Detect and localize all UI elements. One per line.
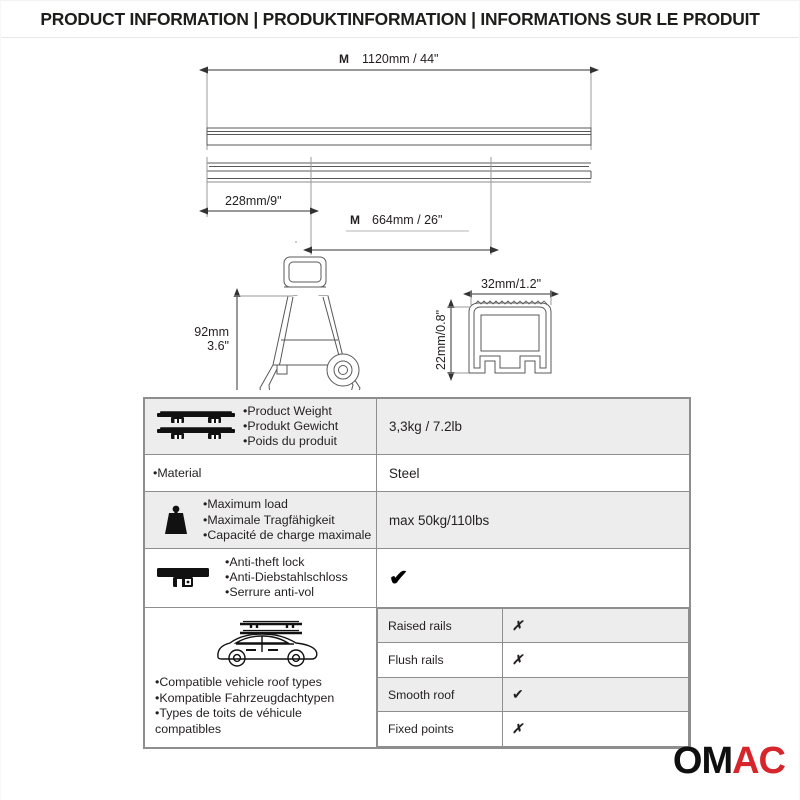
table-row: •Compatible vehicle roof types •Kompatib… [145, 607, 690, 747]
roof-type-row: Raised rails ✗ [378, 608, 689, 643]
roof-type-mark: ✗ [503, 608, 689, 643]
weight-labels: •Product Weight •Produkt Gewicht •Poids … [243, 404, 338, 449]
load-labels: •Maximum load •Maximale Tragfähigkeit •C… [203, 497, 371, 542]
car-with-rack-icon [204, 617, 322, 669]
lock-check-mark: ✔ [376, 567, 408, 589]
roof-type-row: Flush rails ✗ [378, 643, 689, 678]
roof-type-name: Raised rails [378, 608, 503, 643]
foot-height-label-line2: 3.6" [207, 339, 229, 353]
roof-type-mark: ✗ [503, 712, 689, 747]
bar-span-prefix: M [350, 213, 360, 227]
logo-text-black: OM [673, 740, 732, 782]
logo-text-red: AC [732, 740, 785, 782]
roof-types-table: Raised rails ✗ Flush rails ✗ [377, 608, 689, 747]
section-width-label: 32mm/1.2" [481, 277, 541, 291]
specification-table: •Product Weight •Produkt Gewicht •Poids … [143, 397, 691, 749]
roof-types-labels: •Compatible vehicle roof types •Kompatib… [155, 675, 334, 737]
load-label-cell: •Maximum load •Maximale Tragfähigkeit •C… [145, 492, 377, 548]
title-divider [1, 37, 799, 38]
roof-type-mark: ✗ [503, 643, 689, 678]
roof-type-name: Smooth roof [378, 677, 503, 712]
roof-type-name: Flush rails [378, 643, 503, 678]
table-row: •Material Steel [145, 455, 690, 492]
load-value-cell: max 50kg/110lbs [377, 492, 690, 548]
page-title: PRODUCT INFORMATION | PRODUKTINFORMATION… [1, 9, 799, 30]
bar-span-label: 664mm / 26" [372, 213, 442, 227]
roof-type-mark: ✔ [503, 677, 689, 712]
table-row: •Maximum load •Maximale Tragfähigkeit •C… [145, 492, 690, 548]
table-row: •Anti-theft lock •Anti-Diebstahlschloss … [145, 548, 690, 607]
material-value-cell: Steel [377, 455, 690, 492]
lock-label-cell: •Anti-theft lock •Anti-Diebstahlschloss … [145, 548, 377, 607]
omac-logo: OMAC [673, 742, 785, 780]
foot-offset-label: 228mm/9" [225, 194, 282, 208]
load-value: max 50kg/110lbs [377, 513, 689, 528]
product-information-page: PRODUCT INFORMATION | PRODUKTINFORMATION… [0, 0, 800, 800]
bar-length-prefix: M [339, 52, 349, 66]
weight-value: 3,3kg / 7.2lb [377, 419, 689, 434]
roof-types-label-cell: •Compatible vehicle roof types •Kompatib… [145, 607, 377, 747]
roof-types-matrix-cell: Raised rails ✗ Flush rails ✗ [377, 607, 690, 747]
material-value: Steel [377, 466, 689, 481]
lock-icon [155, 564, 211, 592]
roof-type-row: Smooth roof ✔ [378, 677, 689, 712]
foot-height-label-line1: 92mm [194, 325, 229, 339]
lock-value-cell: ✔ [377, 548, 690, 607]
weight-label-cell: •Product Weight •Produkt Gewicht •Poids … [145, 399, 377, 455]
section-height-label: 22mm/0.8" [434, 310, 448, 370]
weight-value-cell: 3,3kg / 7.2lb [377, 399, 690, 455]
crossbars-icon [155, 410, 237, 444]
roof-type-row: Fixed points ✗ [378, 712, 689, 747]
table-row: •Product Weight •Produkt Gewicht •Poids … [145, 399, 690, 455]
material-label-cell: •Material [145, 455, 377, 492]
weight-icon [159, 503, 193, 537]
technical-drawings: M 1120mm / 44" 228mm/9" M 664mm / 26" 92… [1, 45, 800, 390]
roof-type-name: Fixed points [378, 712, 503, 747]
lock-labels: •Anti-theft lock •Anti-Diebstahlschloss … [225, 555, 348, 600]
page-header: PRODUCT INFORMATION | PRODUKTINFORMATION… [1, 9, 799, 38]
bar-length-label: 1120mm / 44" [362, 52, 438, 66]
material-labels: •Material [153, 466, 201, 480]
